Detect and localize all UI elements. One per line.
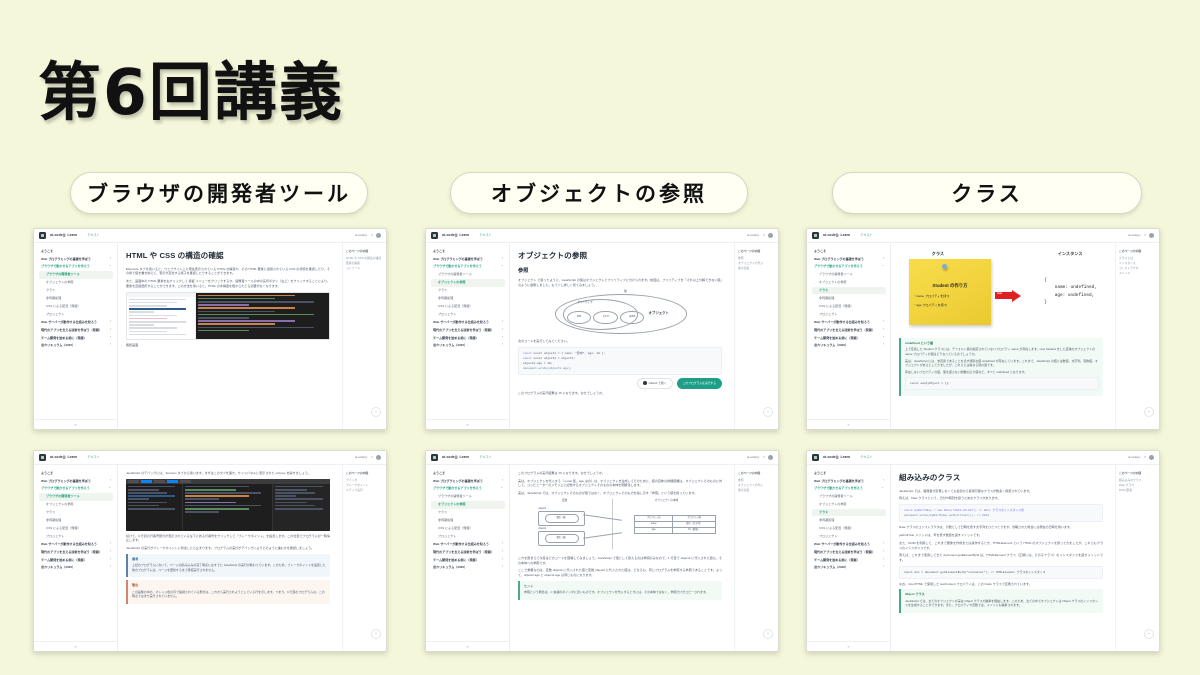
chevron-down-icon: ⌄ xyxy=(108,264,111,267)
diagram-col-object-body: オブジェクトの本体 xyxy=(655,499,678,503)
chevron-down-icon: ⌄ xyxy=(500,486,503,489)
sidebar-item-modern-tech[interactable]: 現代のアプリを支える技術を学ぼう（発展）› xyxy=(812,326,886,334)
section-pill-class: クラス xyxy=(832,172,1142,214)
pin-icon xyxy=(942,264,947,269)
diagram-box-object1: 参照（値） xyxy=(538,511,585,526)
callout-title: undefined という値 xyxy=(905,341,1099,346)
chevron-right-icon: › xyxy=(110,257,111,260)
doc-paragraph: 続けて、6 行目の行番号部分が表示されている左下にある行番号をクリックして「ブレ… xyxy=(126,534,330,543)
table-cell: 19（数値） xyxy=(673,528,716,534)
site-brand: ut.code(); Learn xyxy=(823,455,850,460)
chevron-right-icon: › xyxy=(110,328,111,331)
table-of-contents: このページの内容 クラスとは インスタンス コンストラクタ メソッド xyxy=(1115,243,1159,430)
doc-paragraph: ここで重要なのは、変数 object1 に代入された値と変数 object2 に… xyxy=(518,568,722,577)
sidebar-item-welcome[interactable]: ようこそ xyxy=(431,247,505,255)
venn-diagram: 値 プリミティブ 数値 文字列 真偽値 オブジェクト xyxy=(518,290,722,336)
chevron-down-icon: ⌄ xyxy=(881,486,884,489)
venn-primitive-label: プリミティブ xyxy=(577,301,592,305)
doc-paragraph: また、画面中の HTML 要素を右クリックして 検証 メニューをクリックするか、… xyxy=(126,279,330,288)
toc-item[interactable]: 値の比較 xyxy=(738,266,775,271)
chevron-right-icon: › xyxy=(883,336,884,339)
chevron-right-icon: › xyxy=(502,479,503,482)
screenshot-grid: ut.code(); Learn テキスト ut.code(); ↗ ようこそ … xyxy=(0,228,1200,668)
sun-icon[interactable] xyxy=(1149,233,1154,238)
chevron-right-icon: › xyxy=(110,542,111,545)
doc-paragraph: これを踏まえて今度はどのコードを図解してみましょう。JavaScript で値と… xyxy=(518,556,722,565)
sidebar-item-web-basics[interactable]: Web プログラミングの基礎を学ぼう› xyxy=(431,255,505,263)
chevron-right-icon: › xyxy=(110,550,111,553)
sidebar-item-devtools[interactable]: ブラウザの開発者ツール xyxy=(812,493,886,501)
screenshot-class-bottom[interactable]: ut.code(); Learn テキスト ut.code(); ↗ ようこそ … xyxy=(806,450,1160,652)
sidebar-item-old-curriculum[interactable]: 旧カリキュラム（2020）› xyxy=(39,564,113,572)
sidebar-item-css-layout[interactable]: CSS による配置（発展） xyxy=(431,524,505,532)
chevron-right-icon: › xyxy=(502,257,503,260)
site-header: ut.code(); Learn テキスト ut.code(); ↗ xyxy=(807,229,1159,243)
chevron-right-icon: › xyxy=(110,558,111,561)
callout-warning: 警告 この画像の中の、オレンジ色の帯で強調されている部分は、これから実行されよう… xyxy=(126,580,330,604)
scroll-to-top-button[interactable]: ^ xyxy=(763,629,773,639)
header-external-link[interactable]: ut.code(); xyxy=(1128,455,1141,460)
sidebar-item-class[interactable]: クラス xyxy=(431,509,505,517)
chevron-right-icon: › xyxy=(502,343,503,346)
sidebar-item-css-layout[interactable]: CSS による配置（発展） xyxy=(812,302,886,310)
site-logo-icon xyxy=(39,454,46,461)
callout-title: 備考 xyxy=(132,557,326,562)
sidebar-item-browser-apps[interactable]: ブラウザで動かせるアプリを作ろう⌄ xyxy=(812,263,886,271)
toc-item[interactable]: 値の比較 xyxy=(738,488,775,493)
external-link-icon: ↗ xyxy=(370,233,373,238)
toc-item[interactable]: DOM 要素 xyxy=(1119,488,1156,493)
sidebar: ようこそ Web プログラミングの基礎を学ぼう› ブラウザで動かせるアプリを作ろ… xyxy=(807,465,891,652)
code-block: const div = document.getElementById("con… xyxy=(899,566,1103,579)
callout-object-class: Object クラス JavaScript では、全てのオブジェクトが実は Ob… xyxy=(899,589,1103,613)
sidebar-item-project[interactable]: プロジェクト xyxy=(431,310,505,318)
new-arrow-icon: new xyxy=(995,289,1021,302)
sidebar-item-browser-apps[interactable]: ブラウザで動かせるアプリを作ろう⌄ xyxy=(431,263,505,271)
callout-paragraph: 上記のプログラムにおいて、ページの読み込みの完了時点にはすでに JavaScri… xyxy=(132,563,326,572)
sidebar-item-class[interactable]: クラス xyxy=(39,287,113,295)
chevron-right-icon: › xyxy=(883,550,884,553)
sidebar-collapse-button[interactable]: « xyxy=(426,641,509,652)
sidebar-item-devtools[interactable]: ブラウザの開発者ツール xyxy=(812,271,886,279)
callout-tip: ヒント 参照という概念は、C 言語のポインタに近いものです。オブジェクトを代入す… xyxy=(518,581,722,600)
sidebar-item-welcome[interactable]: ようこそ xyxy=(431,469,505,477)
doc-paragraph: Date クラスのコンストラクタは、引数として日時を表す文字列をひとつとります。… xyxy=(899,525,1103,530)
sidebar-item-browser-apps[interactable]: ブラウザで動かせるアプリを作ろう⌄ xyxy=(431,485,505,493)
sidebar-item-browser-apps[interactable]: ブラウザで動かせるアプリを作ろう⌄ xyxy=(812,485,886,493)
devtools-screenshot xyxy=(126,479,330,531)
site-brand: ut.code(); Learn xyxy=(442,233,469,238)
doc-paragraph: Elements タブを用いると、ウェブサイト上に現在表示されている HTML … xyxy=(126,267,330,276)
section-pill-row: ブラウザの開発者ツール オブジェクトの参照 クラス xyxy=(0,172,1200,216)
callout-title: Object クラス xyxy=(905,592,1099,597)
open-in-github-button[interactable]: GitHub で開く xyxy=(637,378,673,388)
diagram-col-variable: 変数 xyxy=(562,499,567,503)
sidebar-item-team-dev[interactable]: チーム開発を始める前に（発展）› xyxy=(812,556,886,564)
sidebar-item-async[interactable]: 非同期処理 xyxy=(812,294,886,302)
screenshot-object-reference-bottom[interactable]: ut.code(); Learn テキスト ut.code(); ↗ ようこそ … xyxy=(425,450,779,652)
chevron-right-icon: › xyxy=(110,336,111,339)
sidebar-item-web-basics[interactable]: Web プログラミングの基礎を学ぼう› xyxy=(812,255,886,263)
callout-paragraph: JavaScript では、全てのオブジェクトが実は Object クラスの継承… xyxy=(905,599,1099,608)
scroll-to-top-button[interactable]: ^ xyxy=(1144,407,1154,417)
doc-paragraph: 例えば、これまで使用してきた document.getElementById は… xyxy=(899,553,1103,562)
sidebar: ようこそ Web プログラミングの基礎を学ぼう› ブラウザで動かせるアプリを作ろ… xyxy=(426,243,510,430)
nav-text-link[interactable]: テキスト xyxy=(860,455,873,460)
sidebar: ようこそ Web プログラミングの基礎を学ぼう› ブラウザで動かせるアプリを作ろ… xyxy=(807,243,891,430)
main-content: このページの内容 クラスとは インスタンス コンストラクタ メソッド クラス イ… xyxy=(891,243,1159,430)
callout-title: 警告 xyxy=(132,583,326,588)
sidebar: ようこそ Web プログラミングの基礎を学ぼう› ブラウザで動かせるアプリを作ろ… xyxy=(426,465,510,652)
sidebar-item-async[interactable]: 非同期処理 xyxy=(39,516,113,524)
table-of-contents: このページの内容 参照 オブジェクトの代入 値の比較 xyxy=(734,465,778,652)
doc-paragraph: JavaScript のデバッグには、Sources タブから用います。まずはこ… xyxy=(126,471,330,476)
site-header: ut.code(); Learn テキスト ut.code(); ↗ xyxy=(34,451,386,465)
sidebar-item-object-reference[interactable]: オブジェクトの参照 xyxy=(39,279,113,287)
screenshot-devtools-top[interactable]: ut.code(); Learn テキスト ut.code(); ↗ ようこそ … xyxy=(33,228,387,430)
doc-paragraph: このプログラムの実行結果は 19 になります。なぜでしょうか。 xyxy=(518,391,722,396)
chevron-right-icon: › xyxy=(883,320,884,323)
sidebar-item-webserver[interactable]: Web サーバーが動作する仕組みを知ろう› xyxy=(812,318,886,326)
sidebar-item-async[interactable]: 非同期処理 xyxy=(431,516,505,524)
sidebar-item-welcome[interactable]: ようこそ xyxy=(812,247,886,255)
doc-subheading: 参照 xyxy=(518,267,722,275)
table-cell: age xyxy=(635,528,673,534)
sidebar-item-modern-tech[interactable]: 現代のアプリを支える技術を学ぼう（発展）› xyxy=(431,548,505,556)
doc-paragraph: 実は、オブジェクトを代入する（ const 型、age はの）は、オブジェクトを… xyxy=(518,479,722,488)
callout-paragraph: 参照という概念は、C 言語のポインタに近いものです。オブジェクトを代入するときに… xyxy=(524,590,718,595)
doc-paragraph: オブジェクト で扱ったように、JavaScript の値はオブジェクトとプリミテ… xyxy=(518,278,722,287)
nav-text-link[interactable]: テキスト xyxy=(87,233,100,238)
diagram-instance-label: インスタンス xyxy=(1058,251,1083,258)
sidebar-item-devtools[interactable]: ブラウザの開発者ツール xyxy=(39,271,113,279)
sidebar-item-css-layout[interactable]: CSS による配置（発展） xyxy=(39,524,113,532)
section-pill-object-reference: オブジェクトの参照 xyxy=(450,172,748,214)
doc-heading: HTML や CSS の構造の確認 xyxy=(126,250,330,262)
chevron-right-icon: › xyxy=(502,542,503,545)
section-pill-browser-devtools: ブラウザの開発者ツール xyxy=(70,172,368,214)
sidebar-item-devtools[interactable]: ブラウザの開発者ツール xyxy=(39,493,113,501)
site-brand: ut.code(); Learn xyxy=(50,233,77,238)
sidebar: ようこそ Web プログラミングの基礎を学ぼう› ブラウザで動かせるアプリを作ろ… xyxy=(34,465,118,652)
main-content: このページの内容 組み込みのクラス Date クラス DOM 要素 組み込みのク… xyxy=(891,465,1159,652)
chevron-right-icon: › xyxy=(883,328,884,331)
sidebar-item-team-dev[interactable]: チーム開発を始める前に（発展）› xyxy=(431,556,505,564)
sidebar-item-old-curriculum[interactable]: 旧カリキュラム（2020）› xyxy=(812,342,886,350)
sidebar-collapse-button[interactable]: « xyxy=(807,641,890,652)
callout-paragraph: この画像の中の、オレンジ色の帯で強調されている部分は、これから実行されようとして… xyxy=(132,590,326,599)
doc-caption: 確認画面 xyxy=(126,343,330,348)
sidebar-item-async[interactable]: 非同期処理 xyxy=(39,294,113,302)
code-block: const emptyObject = {}; xyxy=(905,377,1099,390)
screenshot-object-reference-top[interactable]: ut.code(); Learn テキスト ut.code(); ↗ ようこそ … xyxy=(425,228,779,430)
external-link-icon: ↗ xyxy=(1143,233,1146,238)
run-program-button[interactable]: このプログラムを実行する xyxy=(677,378,722,388)
sidebar-item-project[interactable]: プロジェクト xyxy=(39,532,113,540)
chevron-right-icon: › xyxy=(502,565,503,568)
doc-paragraph: このプログラムの実行結果は 19 になります。なぜでしょうか。 xyxy=(518,471,722,476)
chevron-right-icon: › xyxy=(502,328,503,331)
scroll-to-top-button[interactable]: ^ xyxy=(371,407,381,417)
toc-item[interactable]: ステップ実行 xyxy=(346,488,383,493)
sidebar-item-project[interactable]: プロジェクト xyxy=(431,532,505,540)
sidebar-item-async[interactable]: 非同期処理 xyxy=(431,294,505,302)
sidebar-item-old-curriculum[interactable]: 旧カリキュラム（2020）› xyxy=(812,564,886,572)
sidebar-item-welcome[interactable]: ようこそ xyxy=(812,469,886,477)
sidebar-collapse-button[interactable]: « xyxy=(34,419,117,430)
header-external-link[interactable]: ut.code(); xyxy=(747,233,760,238)
table-of-contents: このページの内容 組み込みのクラス Date クラス DOM 要素 xyxy=(1115,465,1159,652)
table-of-contents: このページの内容 HTML や CSS の構造の確認 要素の編集 コンソール xyxy=(342,243,386,430)
main-content: このページの内容 デバッガ ブレークポイント ステップ実行 JavaScript… xyxy=(118,465,386,652)
sidebar-item-project[interactable]: プロジェクト xyxy=(812,310,886,318)
scroll-to-top-button[interactable]: ^ xyxy=(371,629,381,639)
screenshot-class-top[interactable]: ut.code(); Learn テキスト ut.code(); ↗ ようこそ … xyxy=(806,228,1160,430)
sidebar-item-web-basics[interactable]: Web プログラミングの基礎を学ぼう› xyxy=(431,477,505,485)
site-brand: ut.code(); Learn xyxy=(823,233,850,238)
sidebar-item-webserver[interactable]: Web サーバーが動作する仕組みを知ろう› xyxy=(431,318,505,326)
table-row: age 19（数値） xyxy=(635,528,716,534)
sun-icon[interactable] xyxy=(376,233,381,238)
class-instance-diagram: クラス インスタンス Student の作り方 ・name プロパティを持つ ・… xyxy=(899,251,1103,335)
sidebar-item-class[interactable]: クラス xyxy=(812,509,886,517)
sticky-note: Student の作り方 ・name プロパティを持つ ・age プロパティを持… xyxy=(909,259,991,325)
chevron-right-icon: › xyxy=(883,565,884,568)
callout-paragraph: 存在しないプロパティの値、値を返さない関数の戻り値など、すべて undefine… xyxy=(905,370,1099,375)
diagram-box-object2: 参照（値） xyxy=(538,531,585,546)
toc-item[interactable]: コンソール xyxy=(346,266,383,271)
site-header: ut.code(); Learn テキスト ut.code(); ↗ xyxy=(34,229,386,243)
header-external-link[interactable]: ut.code(); xyxy=(747,455,760,460)
chevron-right-icon: › xyxy=(110,479,111,482)
doc-paragraph: 例えば、Date クラスという、日付や時刻を扱うためのクラスがあります。 xyxy=(899,496,1103,501)
sidebar-item-team-dev[interactable]: チーム開発を始める前に（発展）› xyxy=(812,334,886,342)
sidebar-item-devtools[interactable]: ブラウザの開発者ツール xyxy=(431,271,505,279)
sun-icon[interactable] xyxy=(768,455,773,460)
callout-note: 備考 上記のプログラムにおいて、ページの読み込みの完了時点にはすでに JavaS… xyxy=(126,554,330,578)
sidebar-item-project[interactable]: プロジェクト xyxy=(812,532,886,540)
site-logo-icon xyxy=(431,232,438,239)
sidebar-item-object-reference[interactable]: オブジェクトの参照 xyxy=(812,501,886,509)
slide-root: 第6回講義 ブラウザの開発者ツール オブジェクトの参照 クラス ut.code(… xyxy=(0,0,1200,675)
doc-paragraph: getFullYear メソッドは、年を表す数値を返すメソッドです。 xyxy=(899,533,1103,538)
header-external-link[interactable]: ut.code(); xyxy=(355,233,368,238)
doc-paragraph: JavaScript の実行がブレークポイントに到達したら止まります。プログラム… xyxy=(126,546,330,551)
nav-text-link[interactable]: テキスト xyxy=(479,233,492,238)
chevron-right-icon: › xyxy=(502,320,503,323)
sidebar-item-team-dev[interactable]: チーム開発を始める前に（発展）› xyxy=(39,556,113,564)
chevron-right-icon: › xyxy=(883,343,884,346)
sidebar-item-css-layout[interactable]: CSS による配置（発展） xyxy=(812,524,886,532)
sidebar-item-async[interactable]: 非同期処理 xyxy=(812,516,886,524)
sidebar-item-old-curriculum[interactable]: 旧カリキュラム（2020）› xyxy=(39,342,113,350)
chevron-down-icon: ⌄ xyxy=(108,486,111,489)
chevron-right-icon: › xyxy=(110,343,111,346)
github-icon xyxy=(643,381,647,385)
main-content: このページの内容 参照 オブジェクトの代入 値の比較 このプログラムの実行結果は… xyxy=(510,465,778,652)
chevron-right-icon: › xyxy=(502,336,503,339)
sidebar-item-web-basics[interactable]: Web プログラミングの基礎を学ぼう› xyxy=(812,477,886,485)
doc-paragraph: また、DOM を利用して、これまで要素を作成または操作するとき、HTMLElem… xyxy=(899,541,1103,550)
site-brand: ut.code(); Learn xyxy=(442,455,469,460)
sidebar-item-web-basics[interactable]: Web プログラミングの基礎を学ぼう› xyxy=(39,255,113,263)
sidebar-item-class[interactable]: クラス xyxy=(812,287,886,295)
sidebar-item-old-curriculum[interactable]: 旧カリキュラム（2020）› xyxy=(431,342,505,350)
sidebar-item-modern-tech[interactable]: 現代のアプリを支える技術を学ぼう（発展）› xyxy=(812,548,886,556)
site-brand: ut.code(); Learn xyxy=(50,455,77,460)
header-external-link[interactable]: ut.code(); xyxy=(1128,233,1141,238)
main-content: このページの内容 HTML や CSS の構造の確認 要素の編集 コンソール H… xyxy=(118,243,386,430)
sidebar-item-team-dev[interactable]: チーム開発を始める前に（発展）› xyxy=(39,334,113,342)
chevron-right-icon: › xyxy=(110,565,111,568)
header-external-link[interactable]: ut.code(); xyxy=(355,455,368,460)
sidebar-item-webserver[interactable]: Web サーバーが動作する仕組みを知ろう› xyxy=(39,318,113,326)
sidebar-item-webserver[interactable]: Web サーバーが動作する仕組みを知ろう› xyxy=(812,540,886,548)
scroll-to-top-button[interactable]: ^ xyxy=(1144,629,1154,639)
reference-diagram: 変数 オブジェクトの本体 object1 参照（値） object2 参照（値） xyxy=(518,499,722,553)
code-block: const const object1 = { name: "田中", age:… xyxy=(518,347,722,375)
sidebar-item-welcome[interactable]: ようこそ xyxy=(39,469,113,477)
external-link-icon: ↗ xyxy=(370,455,373,460)
arrow-label: new xyxy=(997,292,1002,296)
sidebar-item-css-layout[interactable]: CSS による配置（発展） xyxy=(431,302,505,310)
chevron-right-icon: › xyxy=(883,542,884,545)
embedded-screenshot xyxy=(126,292,330,340)
callout-title: ヒント xyxy=(524,584,718,589)
sidebar-item-devtools[interactable]: ブラウザの開発者ツール xyxy=(431,493,505,501)
callout-paragraph: 上で定義した Student クラスには、デフォルト値の指定されていないプロパテ… xyxy=(905,347,1099,356)
external-link-icon: ↗ xyxy=(762,233,765,238)
sidebar-item-modern-tech[interactable]: 現代のアプリを支える技術を学ぼう（発展）› xyxy=(39,548,113,556)
chevron-down-icon: ⌄ xyxy=(881,264,884,267)
instance-code: { name: undefined, age: undefined, } xyxy=(1044,277,1097,306)
sidebar-collapse-button[interactable]: « xyxy=(426,419,509,430)
site-logo-icon xyxy=(431,454,438,461)
toc-item[interactable]: メソッド xyxy=(1119,271,1156,276)
external-link-icon: ↗ xyxy=(1143,455,1146,460)
main-content: このページの内容 参照 オブジェクトの代入 値の比較 オブジェクトの参照 参照 … xyxy=(510,243,778,430)
sidebar-item-object-reference[interactable]: オブジェクトの参照 xyxy=(812,279,886,287)
sticky-item: ・age プロパティを持つ xyxy=(913,303,987,308)
sun-icon[interactable] xyxy=(768,233,773,238)
doc-heading: 組み込みのクラス xyxy=(899,472,1103,484)
sidebar-item-webserver[interactable]: Web サーバーが動作する仕組みを知ろう› xyxy=(39,540,113,548)
site-header: ut.code(); Learn テキスト ut.code(); ↗ xyxy=(807,451,1159,465)
site-header: ut.code(); Learn テキスト ut.code(); ↗ xyxy=(426,229,778,243)
sidebar-item-webserver[interactable]: Web サーバーが動作する仕組みを知ろう› xyxy=(431,540,505,548)
sidebar-item-old-curriculum[interactable]: 旧カリキュラム（2020）› xyxy=(431,564,505,572)
sidebar: ようこそ Web プログラミングの基礎を学ぼう› ブラウザで動かせるアプリを作ろ… xyxy=(34,243,118,430)
code-block: const myBirthday = new Date("2014-03-08"… xyxy=(899,504,1103,522)
sidebar-collapse-button[interactable]: « xyxy=(807,419,890,430)
doc-paragraph: JavaScript では、開発者が定義しなくても最初から使用可能なクラスが数多… xyxy=(899,489,1103,494)
site-logo-icon xyxy=(812,232,819,239)
doc-heading: オブジェクトの参照 xyxy=(518,250,722,262)
sidebar-item-web-basics[interactable]: Web プログラミングの基礎を学ぼう› xyxy=(39,477,113,485)
sidebar-item-project[interactable]: プロジェクト xyxy=(39,310,113,318)
chevron-right-icon: › xyxy=(883,479,884,482)
callout-undefined: undefined という値 上で定義した Student クラスには、デフォル… xyxy=(899,338,1103,396)
sidebar-item-modern-tech[interactable]: 現代のアプリを支える技術を学ぼう（発展）› xyxy=(39,326,113,334)
nav-text-link[interactable]: テキスト xyxy=(860,233,873,238)
chevron-right-icon: › xyxy=(502,558,503,561)
nav-text-link[interactable]: テキスト xyxy=(87,455,100,460)
sidebar-item-welcome[interactable]: ようこそ xyxy=(39,247,113,255)
sticky-title: Student の作り方 xyxy=(913,283,987,290)
sidebar-item-object-reference[interactable]: オブジェクトの参照 xyxy=(39,501,113,509)
sidebar-item-class[interactable]: クラス xyxy=(431,287,505,295)
sidebar-item-modern-tech[interactable]: 現代のアプリを支える技術を学ぼう（発展）› xyxy=(431,326,505,334)
sticky-item: ・name プロパティを持つ xyxy=(913,294,987,299)
scroll-to-top-button[interactable]: ^ xyxy=(763,407,773,417)
sun-icon[interactable] xyxy=(1149,455,1154,460)
chevron-down-icon: ⌄ xyxy=(500,264,503,267)
screenshot-devtools-bottom[interactable]: ut.code(); Learn テキスト ut.code(); ↗ ようこそ … xyxy=(33,450,387,652)
table-of-contents: このページの内容 参照 オブジェクトの代入 値の比較 xyxy=(734,243,778,430)
property-table: プロパティ名 プロパティ値 name 田中（文字列） age 19（数値） xyxy=(634,515,716,534)
diagram-class-label: クラス xyxy=(932,251,944,258)
sidebar-item-css-layout[interactable]: CSS による配置（発展） xyxy=(39,302,113,310)
sidebar-item-browser-apps[interactable]: ブラウザで動かせるアプリを作ろう⌄ xyxy=(39,263,113,271)
callout-paragraph: 実は、JavaScript には、未定義であることを表す特別な値 undefin… xyxy=(905,359,1099,368)
sidebar-item-class[interactable]: クラス xyxy=(39,509,113,517)
table-of-contents: このページの内容 デバッガ ブレークポイント ステップ実行 xyxy=(342,465,386,652)
doc-paragraph: なお、innerHTML で使用した textContent プロパティは、この… xyxy=(899,582,1103,587)
venn-object-label: オブジェクト xyxy=(649,311,669,316)
external-link-icon: ↗ xyxy=(762,455,765,460)
nav-text-link[interactable]: テキスト xyxy=(479,455,492,460)
sidebar-item-team-dev[interactable]: チーム開発を始める前に（発展）› xyxy=(431,334,505,342)
sidebar-item-browser-apps[interactable]: ブラウザで動かせるアプリを作ろう⌄ xyxy=(39,485,113,493)
page-title: 第6回講義 xyxy=(38,42,344,133)
chevron-right-icon: › xyxy=(110,320,111,323)
sidebar-item-object-reference[interactable]: オブジェクトの参照 xyxy=(431,501,505,509)
doc-paragraph: 実は、JavaScript では、オブジェクトそのものが値ではなく、オブジェクト… xyxy=(518,491,722,496)
site-logo-icon xyxy=(39,232,46,239)
chevron-right-icon: › xyxy=(883,257,884,260)
chevron-right-icon: › xyxy=(883,558,884,561)
site-logo-icon xyxy=(812,454,819,461)
site-header: ut.code(); Learn テキスト ut.code(); ↗ xyxy=(426,451,778,465)
doc-paragraph: 次のコードを実行してみてください。 xyxy=(518,339,722,344)
sidebar-collapse-button[interactable]: « xyxy=(34,641,117,652)
sun-icon[interactable] xyxy=(376,455,381,460)
sidebar-item-object-reference[interactable]: オブジェクトの参照 xyxy=(431,279,505,287)
chevron-right-icon: › xyxy=(502,550,503,553)
